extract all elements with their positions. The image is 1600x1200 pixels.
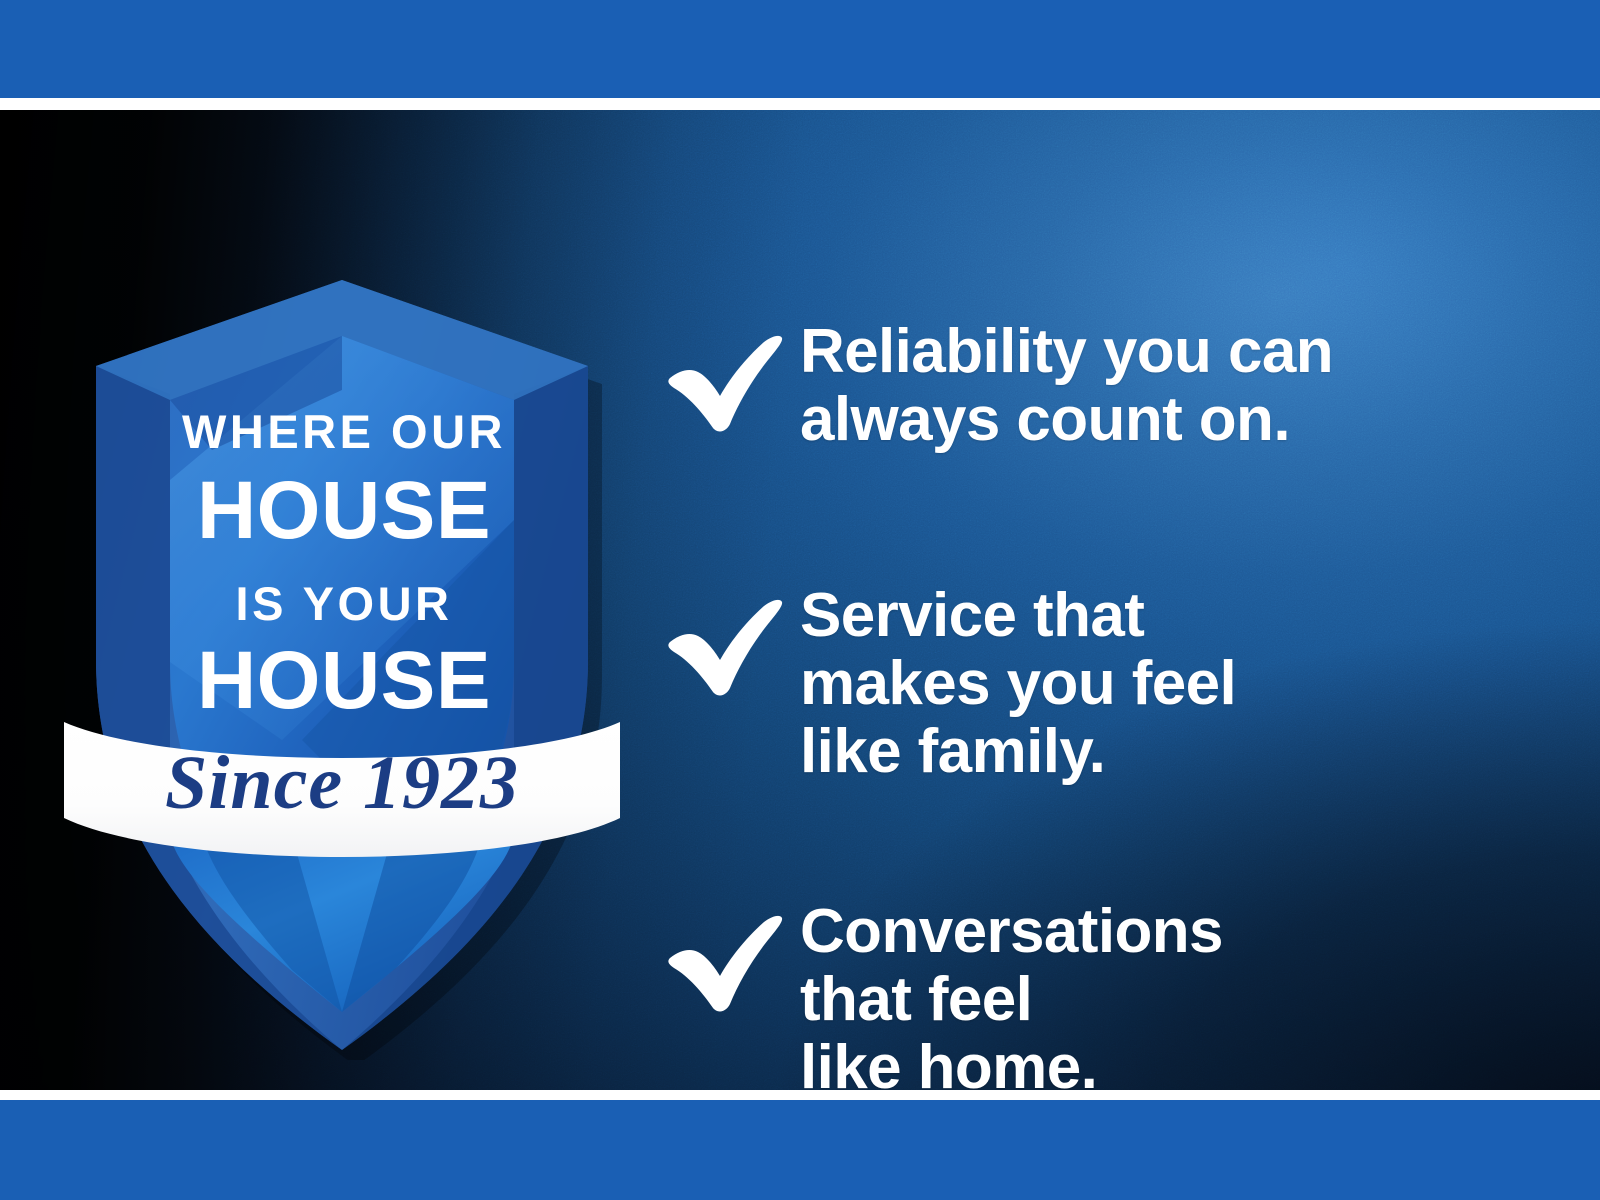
checkmark-icon xyxy=(664,582,800,700)
shield-line-2: HOUSE xyxy=(197,465,491,556)
main-panel: WHERE OUR HOUSE IS YOUR HOUSE Since 1923… xyxy=(0,110,1600,1090)
checkmark-icon xyxy=(664,898,800,1016)
shield-line-3: IS YOUR xyxy=(236,577,453,630)
top-accent-bar xyxy=(0,0,1600,98)
bottom-accent-bar xyxy=(0,1100,1600,1200)
shield-logo: WHERE OUR HOUSE IS YOUR HOUSE Since 1923 xyxy=(52,270,632,1060)
checkmark-icon xyxy=(664,318,800,436)
shield-line-1: WHERE OUR xyxy=(182,405,506,458)
list-item: Conversations that feel like home. xyxy=(664,898,1223,1090)
promo-graphic: WHERE OUR HOUSE IS YOUR HOUSE Since 1923… xyxy=(0,0,1600,1200)
list-item: Service that makes you feel like family. xyxy=(664,582,1236,786)
shield-line-4: HOUSE xyxy=(197,635,491,726)
benefits-list: Reliability you can always count on. Ser… xyxy=(664,290,1564,1090)
list-item: Reliability you can always count on. xyxy=(664,318,1333,454)
list-item-text: Service that makes you feel like family. xyxy=(800,582,1236,786)
list-item-text: Reliability you can always count on. xyxy=(800,318,1333,454)
ribbon-since-text: Since 1923 xyxy=(165,741,519,825)
list-item-text: Conversations that feel like home. xyxy=(800,898,1223,1090)
